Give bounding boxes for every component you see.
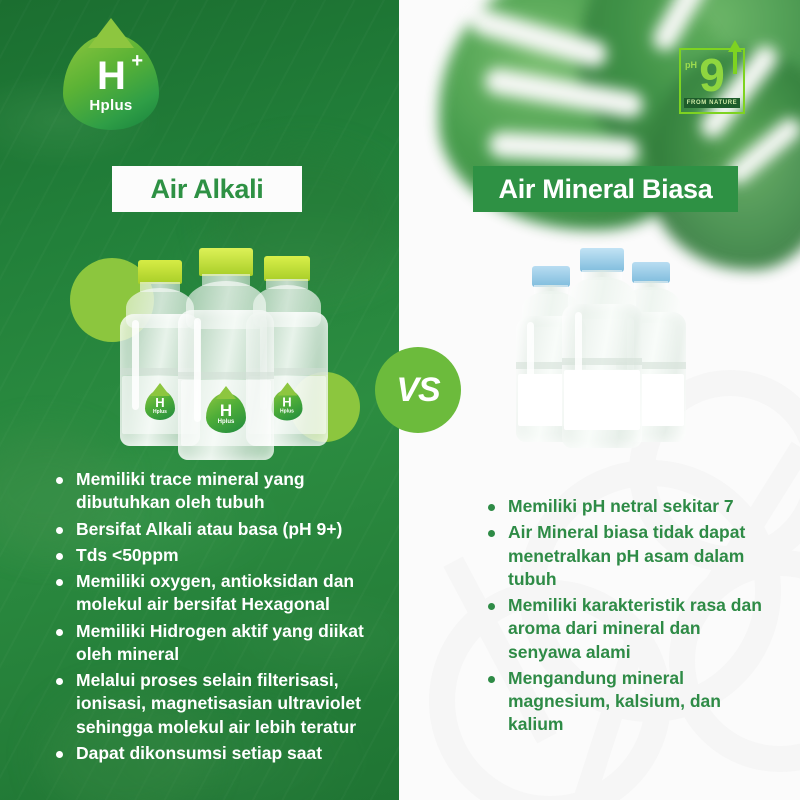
list-item: Mengandung mineral magnesium, kalsium, d…: [478, 667, 778, 737]
alkaline-benefits-list: Memiliki trace mineral yang dibutuhkan o…: [46, 468, 386, 768]
header-air-alkali: Air Alkali: [112, 166, 302, 212]
hplus-logo: H Hplus +: [57, 34, 165, 142]
logo-plus-symbol: +: [131, 50, 143, 73]
header-right-title: Air Mineral Biasa: [499, 174, 713, 205]
infographic-poster: H Hplus + pH 9 FROM NATURE Air Alkali Ai…: [0, 0, 800, 800]
list-item: Memiliki trace mineral yang dibutuhkan o…: [46, 468, 386, 515]
vs-badge: VS: [375, 347, 461, 433]
list-item: Air Mineral biasa tidak dapat menetralka…: [478, 521, 778, 591]
water-drop-logo-icon: H Hplus +: [63, 34, 159, 130]
header-air-mineral-biasa: Air Mineral Biasa: [473, 166, 738, 212]
list-item: Memiliki pH netral sekitar 7: [478, 495, 778, 518]
list-item: Memiliki oxygen, antioksidan dan molekul…: [46, 570, 386, 617]
list-item: Memiliki Hidrogen aktif yang diikat oleh…: [46, 620, 386, 667]
list-item: Bersifat Alkali atau basa (pH 9+): [46, 518, 386, 541]
list-item: Memiliki karakteristik rasa dan aroma da…: [478, 594, 778, 664]
mineral-bottle-group: [516, 248, 686, 448]
logo-letter: H: [97, 56, 125, 96]
list-item: Tds <50ppm: [46, 544, 386, 567]
up-arrow-head-icon: [728, 40, 742, 52]
list-item: Melalui proses selain filterisasi, ionis…: [46, 669, 386, 739]
header-left-title: Air Alkali: [150, 174, 263, 205]
monstera-leaf-photo: [429, 0, 800, 290]
mineral-bottle-front: [562, 248, 642, 448]
up-arrow-icon: [733, 52, 737, 74]
list-item: Dapat dikonsumsi setiap saat: [46, 742, 386, 765]
logo-wordmark: Hplus: [89, 97, 132, 114]
ph-caption: FROM NATURE: [684, 98, 740, 108]
alkaline-bottle-front: H Hplus: [178, 248, 274, 460]
vs-label: VS: [396, 371, 439, 410]
bottle-label-logo-icon: H Hplus: [206, 393, 246, 433]
alkaline-bottle-group: H Hplus H Hplus: [120, 248, 350, 460]
ph-9-badge: pH 9 FROM NATURE: [679, 48, 745, 114]
mineral-traits-list: Memiliki pH netral sekitar 7 Air Mineral…: [478, 495, 778, 740]
